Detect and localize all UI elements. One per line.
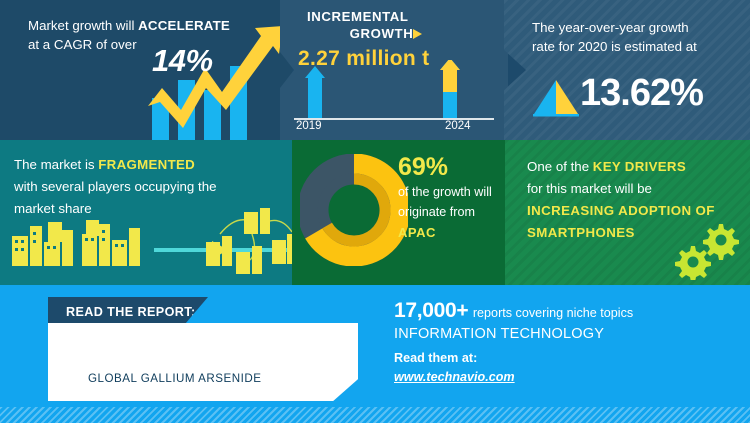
key-drivers-line1-prefix: One of the	[527, 159, 593, 174]
play-triangle-icon	[413, 29, 422, 39]
incremental-growth-title-line2: GROWTH	[350, 26, 414, 41]
key-drivers-line2: for this market will be	[527, 178, 742, 200]
apac-share-line1: of the growth will	[398, 182, 506, 202]
report-title-line1: GLOBAL GALLIUM ARSENIDE	[68, 347, 358, 387]
report-card[interactable]: GLOBAL GALLIUM ARSENIDE (GAAS) WAFERS MA…	[48, 323, 358, 401]
bottom-row: READ THE REPORT: GLOBAL GALLIUM ARSENIDE…	[0, 285, 750, 423]
fragmented-text-strong: FRAGMENTED	[98, 157, 195, 172]
market-growth-text-suffix: at a CAGR of over	[28, 37, 137, 52]
reports-count: 17,000+	[394, 299, 468, 322]
yoy-growth-value: 13.62%	[580, 72, 703, 115]
incremental-growth-title-line1: INCREMENTAL	[307, 9, 409, 24]
technavio-url-link[interactable]: www.technavio.com	[394, 370, 515, 384]
panel-incremental-growth: INCREMENTAL GROWTH 2.27 million t 2019 2…	[280, 0, 508, 140]
market-fragmentation-diagram-icon	[6, 208, 292, 280]
yoy-growth-text: The year-over-year growth rate for 2020 …	[532, 18, 737, 56]
yoy-growth-text-line1: The year-over-year growth	[532, 20, 689, 35]
incremental-growth-bars	[290, 60, 500, 120]
apac-share-region: APAC	[398, 222, 506, 244]
yoy-growth-text-line2: rate for 2020 is estimated at	[532, 39, 697, 54]
infographic-canvas: Market growth will ACCELERATE at a CAGR …	[0, 0, 750, 423]
cagr-value: 14%	[152, 43, 213, 79]
bottom-texture	[0, 407, 750, 423]
read-them-at-label: Read them at:	[394, 351, 654, 365]
panel-fragmented-market: The market is FRAGMENTED with several pl…	[0, 140, 292, 285]
key-drivers-line1-strong: KEY DRIVERS	[593, 159, 686, 174]
reports-stats: 17,000+ reports covering niche topics IN…	[394, 299, 654, 386]
incremental-growth-title: INCREMENTAL GROWTH	[307, 8, 477, 42]
panel-key-drivers: One of the KEY DRIVERS for this market w…	[505, 140, 750, 285]
growth-arrow-chart-icon	[148, 22, 293, 140]
fragmented-text-line2: with several players occupying the	[14, 179, 217, 194]
axis-label-2019: 2019	[296, 120, 322, 132]
axis-label-2024: 2024	[445, 120, 471, 132]
top-row: Market growth will ACCELERATE at a CAGR …	[0, 0, 750, 140]
reports-category: INFORMATION TECHNOLOGY	[394, 326, 654, 342]
triangle-growth-icon	[532, 78, 580, 118]
apac-share-text: 69% of the growth will originate from AP…	[398, 152, 506, 244]
middle-row: The market is FRAGMENTED with several pl…	[0, 140, 750, 285]
reports-caption: reports covering niche topics	[473, 306, 633, 320]
fragmented-text-prefix: The market is	[14, 157, 98, 172]
apac-share-value: 69%	[398, 152, 506, 182]
panel-apac-share: 69% of the growth will originate from AP…	[292, 140, 505, 285]
read-the-report-label: READ THE REPORT:	[48, 297, 208, 319]
panel-yoy-growth: The year-over-year growth rate for 2020 …	[504, 0, 750, 140]
apac-donut-chart	[300, 154, 408, 266]
gears-icon	[673, 218, 743, 280]
market-growth-text-prefix: Market growth will	[28, 18, 138, 33]
panel-market-growth: Market growth will ACCELERATE at a CAGR …	[0, 0, 292, 140]
apac-share-line2: originate from	[398, 202, 506, 222]
